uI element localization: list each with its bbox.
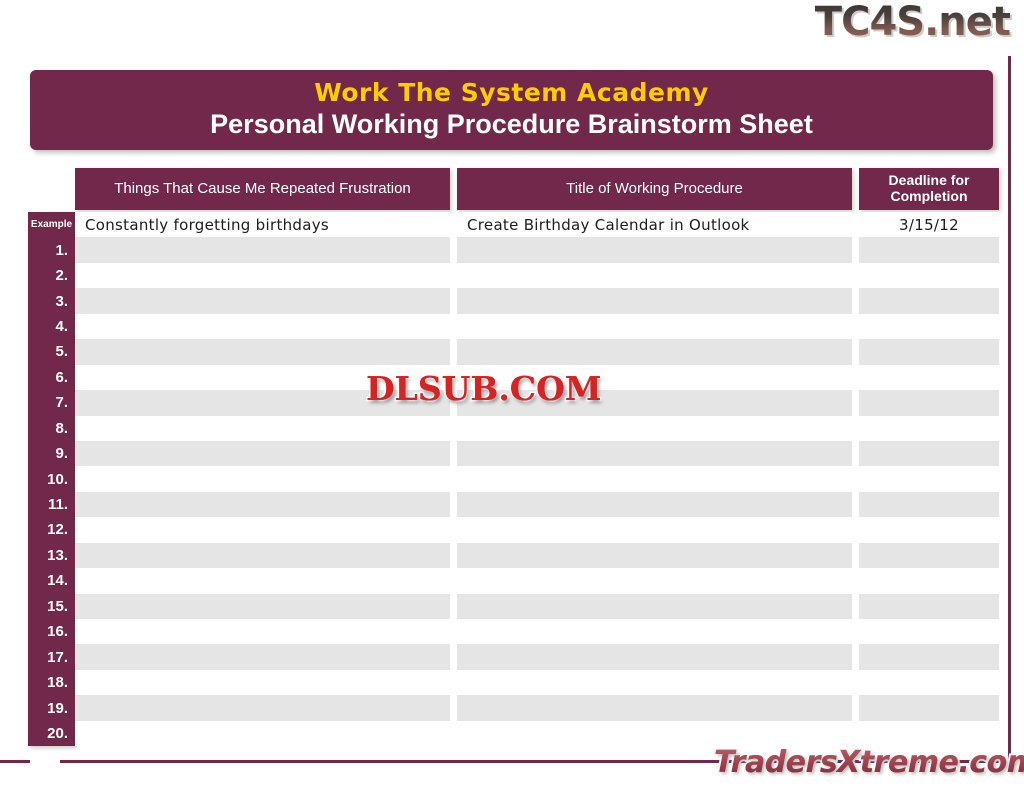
cell-deadline-6[interactable] xyxy=(859,365,999,390)
cell-procedure-example[interactable]: Create Birthday Calendar in Outlook xyxy=(457,212,852,237)
cell-frustration-20[interactable] xyxy=(75,721,450,746)
cell-frustration-19[interactable] xyxy=(75,695,450,720)
row-index-11: 11. xyxy=(28,492,75,517)
cell-deadline-15[interactable] xyxy=(859,594,999,619)
row-index-1: 1. xyxy=(28,237,75,262)
column-header-deadline-line2: Completion xyxy=(891,188,968,204)
cell-frustration-16[interactable] xyxy=(75,619,450,644)
title-banner: Work The System Academy Personal Working… xyxy=(30,70,993,150)
cell-frustration-14[interactable] xyxy=(75,568,450,593)
cell-deadline-8[interactable] xyxy=(859,416,999,441)
page-border-right xyxy=(1008,56,1011,762)
page-border-bottom-left xyxy=(0,760,30,763)
row-index-3: 3. xyxy=(28,288,75,313)
cell-frustration-1[interactable] xyxy=(75,237,450,262)
banner-academy-title: Work The System Academy xyxy=(314,79,709,108)
cell-deadline-11[interactable] xyxy=(859,492,999,517)
row-index-13: 13. xyxy=(28,543,75,568)
cell-deadline-13[interactable] xyxy=(859,543,999,568)
row-index-16: 16. xyxy=(28,619,75,644)
cell-frustration-10[interactable] xyxy=(75,466,450,491)
cell-deadline-17[interactable] xyxy=(859,644,999,669)
cell-procedure-15[interactable] xyxy=(457,594,852,619)
cell-frustration-18[interactable] xyxy=(75,670,450,695)
row-index-20: 20. xyxy=(28,721,75,746)
cell-procedure-9[interactable] xyxy=(457,441,852,466)
row-index-15: 15. xyxy=(28,594,75,619)
cell-procedure-16[interactable] xyxy=(457,619,852,644)
cell-deadline-10[interactable] xyxy=(859,466,999,491)
column-header-procedure: Title of Working Procedure xyxy=(457,168,852,210)
row-index-2: 2. xyxy=(28,263,75,288)
row-index-10: 10. xyxy=(28,466,75,491)
cell-procedure-19[interactable] xyxy=(457,695,852,720)
cell-frustration-4[interactable] xyxy=(75,314,450,339)
cell-procedure-18[interactable] xyxy=(457,670,852,695)
cell-frustration-example[interactable]: Constantly forgetting birthdays xyxy=(75,212,450,237)
cell-frustration-17[interactable] xyxy=(75,644,450,669)
cell-frustration-15[interactable] xyxy=(75,594,450,619)
column-header-deadline-line1: Deadline for xyxy=(889,172,970,188)
cell-frustration-13[interactable] xyxy=(75,543,450,568)
cell-deadline-3[interactable] xyxy=(859,288,999,313)
row-index-17: 17. xyxy=(28,644,75,669)
cell-frustration-8[interactable] xyxy=(75,416,450,441)
cell-deadline-12[interactable] xyxy=(859,517,999,542)
cell-procedure-8[interactable] xyxy=(457,416,852,441)
cell-frustration-12[interactable] xyxy=(75,517,450,542)
cell-procedure-2[interactable] xyxy=(457,263,852,288)
row-index-6: 6. xyxy=(28,365,75,390)
row-index-14: 14. xyxy=(28,568,75,593)
row-index-9: 9. xyxy=(28,441,75,466)
row-index-5: 5. xyxy=(28,339,75,364)
column-header-frustration: Things That Cause Me Repeated Frustratio… xyxy=(75,168,450,210)
cell-deadline-2[interactable] xyxy=(859,263,999,288)
cell-frustration-3[interactable] xyxy=(75,288,450,313)
cell-procedure-1[interactable] xyxy=(457,237,852,262)
row-index-example: Example xyxy=(28,212,75,237)
cell-deadline-20[interactable] xyxy=(859,721,999,746)
cell-deadline-1[interactable] xyxy=(859,237,999,262)
cell-procedure-example-text: Create Birthday Calendar in Outlook xyxy=(467,216,750,234)
row-index-4: 4. xyxy=(28,314,75,339)
cell-procedure-5[interactable] xyxy=(457,339,852,364)
cell-deadline-18[interactable] xyxy=(859,670,999,695)
cell-procedure-11[interactable] xyxy=(457,492,852,517)
tc4s-logo: TC4S.net xyxy=(815,2,1010,42)
cell-frustration-11[interactable] xyxy=(75,492,450,517)
row-index-8: 8. xyxy=(28,416,75,441)
cell-procedure-4[interactable] xyxy=(457,314,852,339)
worksheet-page: TC4S.net TC4S.net Work The System Academ… xyxy=(0,0,1024,791)
cell-frustration-example-text: Constantly forgetting birthdays xyxy=(85,216,329,234)
cell-deadline-19[interactable] xyxy=(859,695,999,720)
column-deadline-cells: 3/15/12 xyxy=(859,212,999,746)
dlsub-watermark: DLSUB.COM xyxy=(366,369,601,408)
row-index-column: Example1.2.3.4.5.6.7.8.9.10.11.12.13.14.… xyxy=(28,212,75,746)
row-index-12: 12. xyxy=(28,517,75,542)
cell-procedure-12[interactable] xyxy=(457,517,852,542)
page-title: Personal Working Procedure Brainstorm Sh… xyxy=(210,108,813,142)
tradersxtreme-watermark: TradersXtreme.com xyxy=(714,745,1024,780)
cell-frustration-5[interactable] xyxy=(75,339,450,364)
cell-procedure-10[interactable] xyxy=(457,466,852,491)
column-procedure-cells: Create Birthday Calendar in Outlook xyxy=(457,212,852,746)
column-header-deadline: Deadline for Completion xyxy=(859,168,999,210)
column-frustration-cells: Constantly forgetting birthdays xyxy=(75,212,450,746)
cell-deadline-example[interactable]: 3/15/12 xyxy=(859,212,999,237)
cell-deadline-16[interactable] xyxy=(859,619,999,644)
cell-procedure-17[interactable] xyxy=(457,644,852,669)
cell-deadline-4[interactable] xyxy=(859,314,999,339)
row-index-19: 19. xyxy=(28,695,75,720)
cell-frustration-9[interactable] xyxy=(75,441,450,466)
cell-deadline-14[interactable] xyxy=(859,568,999,593)
cell-procedure-13[interactable] xyxy=(457,543,852,568)
row-index-18: 18. xyxy=(28,670,75,695)
cell-deadline-5[interactable] xyxy=(859,339,999,364)
cell-frustration-2[interactable] xyxy=(75,263,450,288)
cell-deadline-9[interactable] xyxy=(859,441,999,466)
cell-procedure-20[interactable] xyxy=(457,721,852,746)
cell-deadline-example-text: 3/15/12 xyxy=(899,216,959,234)
cell-procedure-14[interactable] xyxy=(457,568,852,593)
cell-deadline-7[interactable] xyxy=(859,390,999,415)
row-index-7: 7. xyxy=(28,390,75,415)
cell-procedure-3[interactable] xyxy=(457,288,852,313)
